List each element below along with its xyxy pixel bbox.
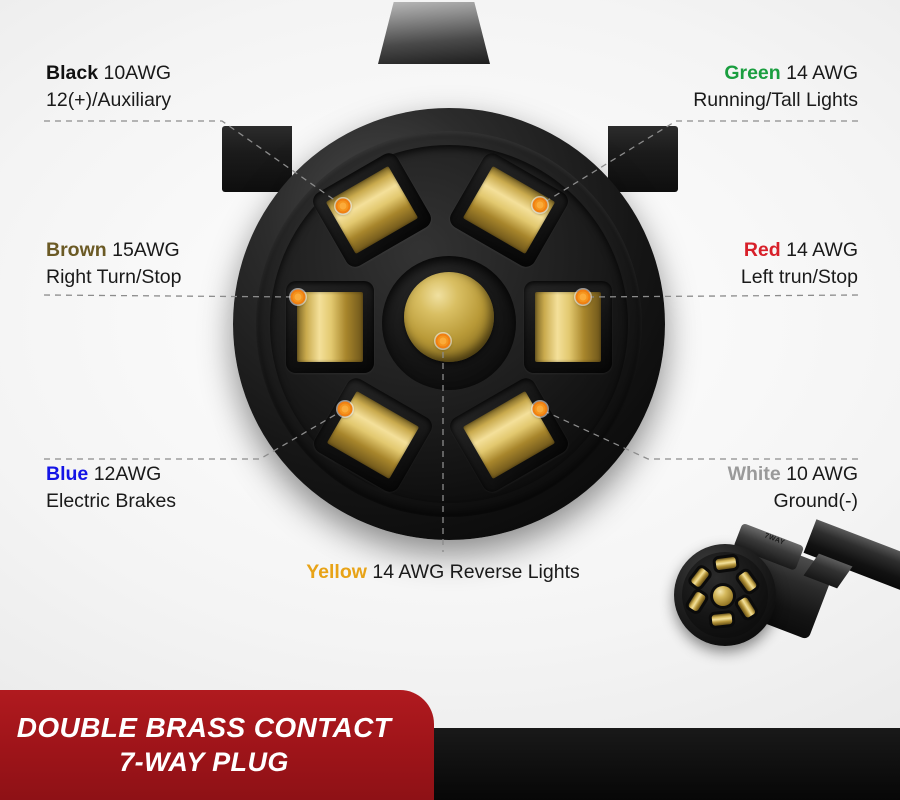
callout-brown: Brown 15AWG Right Turn/Stop [46,237,182,291]
callout-blue-function: Electric Brakes [46,490,176,512]
callout-blue: Blue 12AWG Electric Brakes [46,461,176,515]
callout-brown-function: Right Turn/Stop [46,266,182,288]
callout-blue-gauge: 12AWG [94,463,162,485]
plug-photo-inset: 7WAY [660,510,900,690]
callout-blue-color: Blue [46,463,88,485]
banner-line-2: 7-WAY PLUG [119,745,289,779]
callout-white-gauge: 10 AWG [786,463,858,485]
callout-black-color: Black [46,62,98,84]
pin-marker-black[interactable] [336,199,351,214]
callout-green-function: Running/Tall Lights [693,89,858,111]
callout-brown-color: Brown [46,239,107,261]
callout-yellow-function: Reverse Lights [450,561,580,583]
plug-top-key [378,2,490,64]
promo-banner: DOUBLE BRASS CONTACT 7-WAY PLUG [0,690,434,800]
pin-marker-white[interactable] [533,402,548,417]
plug-right-tab [608,126,678,192]
pin-marker-brown[interactable] [291,290,306,305]
inset-pin-bottom [711,613,732,626]
callout-green-gauge: 14 AWG [786,62,858,84]
callout-yellow: Yellow 14 AWG Reverse Lights [243,559,643,586]
callout-red-gauge: 14 AWG [786,239,858,261]
callout-white-color: White [728,463,781,485]
callout-green-color: Green [724,62,780,84]
callout-brown-gauge: 15AWG [112,239,180,261]
callout-black: Black 10AWG 12(+)/Auxiliary [46,60,171,114]
pin-marker-yellow[interactable] [436,334,451,349]
blade-middle-left [297,292,363,362]
pin-center-ground [404,272,494,362]
blade-middle-right [535,292,601,362]
callout-red: Red 14 AWG Left trun/Stop [588,237,858,291]
inset-pin-center [713,586,733,606]
callout-white-function: Ground(-) [773,490,858,512]
callout-red-color: Red [744,239,781,261]
callout-yellow-gauge: 14 AWG [372,561,444,583]
callout-red-function: Left trun/Stop [741,266,858,288]
callout-yellow-color: Yellow [306,561,367,583]
callout-white: White 10 AWG Ground(-) [588,461,858,515]
callout-black-function: 12(+)/Auxiliary [46,89,171,111]
product-image-canvas: Black 10AWG 12(+)/Auxiliary Green 14 AWG… [0,0,900,800]
pin-marker-green[interactable] [533,198,548,213]
pin-marker-blue[interactable] [338,402,353,417]
callout-black-gauge: 10AWG [103,62,171,84]
banner-line-1: DOUBLE BRASS CONTACT [17,711,392,745]
plug-left-tab [222,126,292,192]
pin-marker-red[interactable] [576,290,591,305]
callout-green: Green 14 AWG Running/Tall Lights [558,60,858,114]
